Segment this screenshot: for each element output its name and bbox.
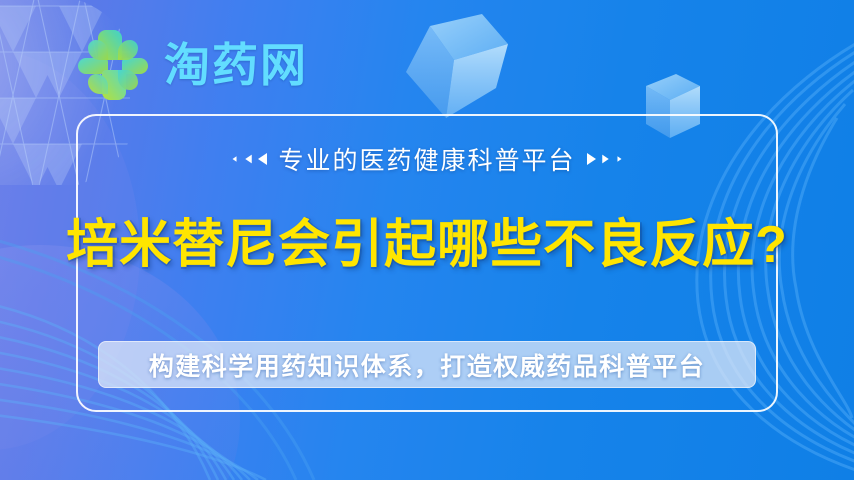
tagline-row: 专业的医药健康科普平台 (230, 141, 623, 177)
footer-slogan-banner: 构建科学用药知识体系，打造权威药品科普平台 (98, 341, 756, 388)
medical-cross-icon (76, 28, 150, 102)
content-area: 专业的医药健康科普平台 培米替尼会引起哪些不良反应? 构建科学用药知识体系，打造… (76, 114, 778, 412)
triangle-right-icons (587, 153, 624, 165)
brand-header: 淘药网 (76, 28, 308, 102)
footer-slogan-text: 构建科学用药知识体系，打造权威药品科普平台 (149, 347, 706, 383)
cube-3d-icon (406, 14, 508, 118)
brand-name: 淘药网 (164, 42, 308, 88)
triangle-left-icons (230, 153, 267, 165)
tagline-text: 专业的医药健康科普平台 (278, 141, 575, 177)
promo-banner: 淘药网 专业的医药健康科普平台 培米替尼会引起哪些不良反应? 构建科学用药知识体… (0, 0, 854, 480)
page-title: 培米替尼会引起哪些不良反应? (66, 215, 788, 276)
